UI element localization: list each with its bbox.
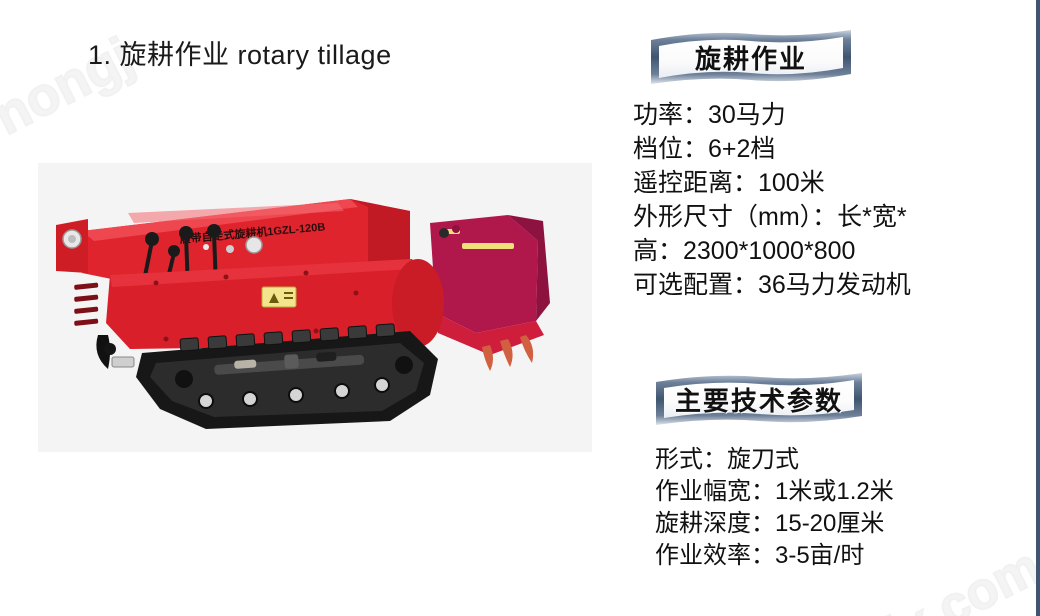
spec-line-power: 功率：30马力: [633, 98, 911, 132]
spec-line-dimensions-values: 高：2300*1000*800: [633, 234, 911, 268]
section-badge-rotary-tillage: 旋耕作业: [645, 28, 857, 86]
slide-root: nongj ngjx.com 1. 旋耕作业 rotary tillage: [0, 0, 1040, 616]
spec-line-remote-range: 遥控距离：100米: [633, 166, 911, 200]
badge-label: 主要技术参数: [675, 381, 843, 418]
spec-line-gears: 档位：6+2档: [633, 132, 911, 166]
spec-list-rotary-tillage: 功率：30马力 档位：6+2档 遥控距离：100米 外形尺寸（mm）：长*宽* …: [633, 98, 911, 302]
spec-line-type: 形式：旋刀式: [655, 444, 894, 476]
spec-list-main-tech-params: 形式：旋刀式 作业幅宽：1米或1.2米 旋耕深度：15-20厘米 作业效率：3-…: [655, 444, 894, 572]
spec-line-tillage-depth: 旋耕深度：15-20厘米: [655, 508, 894, 540]
spec-line-optional-config: 可选配置：36马力发动机: [633, 268, 911, 302]
page-title: 1. 旋耕作业 rotary tillage: [88, 38, 392, 72]
spec-line-work-efficiency: 作业效率：3-5亩/时: [655, 540, 894, 572]
badge-label: 旋耕作业: [695, 39, 807, 76]
tractor-illustration: 履带自走式旋耕机1GZL-120B: [38, 163, 592, 452]
product-photo: 履带自走式旋耕机1GZL-120B: [38, 163, 592, 452]
spec-line-working-width: 作业幅宽：1米或1.2米: [655, 476, 894, 508]
right-edge-accent-bar: [1036, 0, 1040, 616]
spec-line-dimensions: 外形尺寸（mm）：长*宽*: [633, 200, 911, 234]
section-badge-main-tech-params: 主要技术参数: [650, 371, 868, 427]
